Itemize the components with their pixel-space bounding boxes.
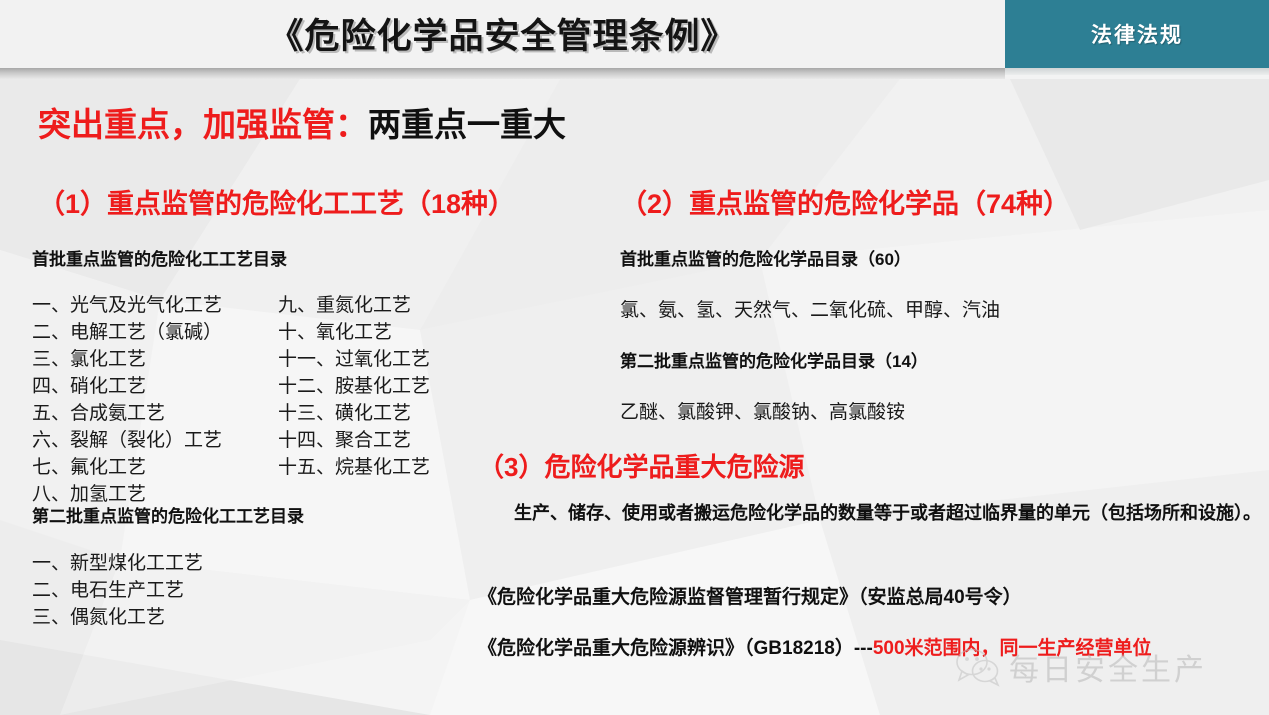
list-item: 十五、烷基化工艺	[278, 454, 430, 481]
main-heading: 突出重点，加强监管：两重点一重大	[38, 98, 566, 146]
list-item: 四、硝化工艺	[32, 373, 222, 400]
list-item: 十二、胺基化工艺	[278, 373, 430, 400]
slide: 《危险化学品安全管理条例》 法律法规 突出重点，加强监管：两重点一重大 （1）重…	[0, 0, 1269, 715]
list-item: 十一、过氧化工艺	[278, 346, 430, 373]
list-item: 三、偶氮化工艺	[32, 604, 203, 631]
section-heading-3: （3）危险化学品重大危险源	[478, 447, 804, 484]
regulation-reference-1: 《危险化学品重大危险源监督管理暂行规定》（安监总局40号令）	[478, 582, 1022, 609]
right-subheading-2: 第二批重点监管的危险化学品目录（14）	[620, 347, 928, 372]
list-item: 七、氟化工艺	[32, 454, 222, 481]
list-item: 九、重氮化工艺	[278, 292, 430, 319]
list-item: 十四、聚合工艺	[278, 427, 430, 454]
chemical-list-2: 乙醚、氯酸钾、氯酸钠、高氯酸铵	[620, 397, 905, 424]
header-divider-right	[1005, 68, 1269, 75]
process-list-column-a: 一、光气及光气化工艺 二、电解工艺（氯碱） 三、氯化工艺 四、硝化工艺 五、合成…	[32, 292, 222, 508]
section-heading-1: （1）重点监管的危险化工工艺（18种）	[38, 182, 515, 221]
regulation-reference-2-black: 《危险化学品重大危险源辨识》（GB18218）---	[478, 638, 873, 659]
list-item: 三、氯化工艺	[32, 346, 222, 373]
main-heading-black: 两重点一重大	[368, 106, 566, 143]
chemical-list-1: 氯、氨、氢、天然气、二氧化硫、甲醇、汽油	[620, 295, 1000, 322]
list-item: 五、合成氨工艺	[32, 400, 222, 427]
header-divider	[0, 68, 1005, 79]
list-item: 一、新型煤化工工艺	[32, 550, 203, 577]
process-list-column-c: 一、新型煤化工工艺 二、电石生产工艺 三、偶氮化工艺	[32, 550, 203, 631]
header-bar: 《危险化学品安全管理条例》 法律法规	[0, 0, 1269, 68]
list-item: 二、电解工艺（氯碱）	[32, 319, 222, 346]
list-item: 二、电石生产工艺	[32, 577, 203, 604]
list-item: 一、光气及光气化工艺	[32, 292, 222, 319]
list-item: 六、裂解（裂化）工艺	[32, 427, 222, 454]
right-subheading-1: 首批重点监管的危险化学品目录（60）	[620, 245, 911, 270]
process-list-column-b: 九、重氮化工艺 十、氧化工艺 十一、过氧化工艺 十二、胺基化工艺 十三、磺化工艺…	[278, 292, 430, 481]
regulation-reference-2-red: 500米范围内，同一生产经营单位	[873, 638, 1152, 659]
left-subheading-2: 第二批重点监管的危险化工工艺目录	[32, 502, 304, 527]
section-heading-2: （2）重点监管的危险化学品（74种）	[620, 182, 1070, 221]
list-item: 十三、磺化工艺	[278, 400, 430, 427]
slide-content: 突出重点，加强监管：两重点一重大 （1）重点监管的危险化工工艺（18种） （2）…	[0, 0, 1269, 715]
page-title: 《危险化学品安全管理条例》	[0, 8, 1005, 59]
list-item: 十、氧化工艺	[278, 319, 430, 346]
major-hazard-definition: 生产、储存、使用或者搬运危险化学品的数量等于或者超过临界量的单元（包括场所和设施…	[478, 500, 1268, 527]
main-heading-red: 突出重点，加强监管：	[38, 106, 368, 143]
left-subheading-1: 首批重点监管的危险化工工艺目录	[32, 245, 287, 270]
regulation-reference-2: 《危险化学品重大危险源辨识》（GB18218）---500米范围内，同一生产经营…	[478, 633, 1152, 660]
status-badge: 法律法规	[1005, 0, 1269, 68]
